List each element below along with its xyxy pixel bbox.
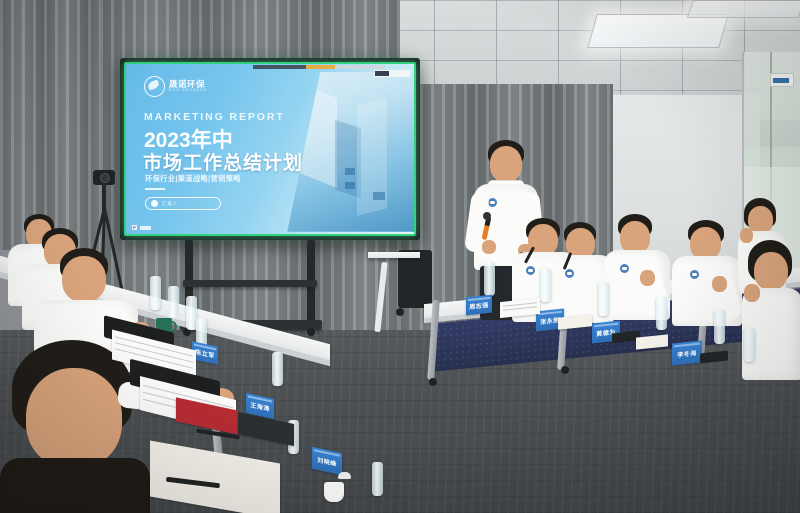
slide-title: 市场工作总结计划 — [143, 148, 303, 175]
polo-chest-logo — [526, 266, 535, 275]
slide-subtitle: 环保行业|渠道战略|营销策略 — [145, 174, 241, 184]
presenter-head — [490, 146, 522, 182]
water-bottle[interactable] — [372, 462, 383, 496]
ceiling-panel-light — [687, 0, 800, 18]
polo-chest-logo — [620, 264, 629, 273]
water-bottle[interactable] — [150, 276, 161, 310]
placard-name: 陈立军 — [195, 346, 215, 359]
wall-sign-bar — [773, 78, 789, 83]
slide-presenter-pill: 汇报人 — [145, 197, 221, 210]
powerpoint-icon: P — [132, 225, 137, 230]
placard-name: 王海涛 — [250, 399, 270, 412]
paper-cup[interactable] — [324, 482, 344, 502]
water-bottle[interactable] — [598, 282, 609, 316]
water-bottle[interactable] — [744, 328, 755, 362]
name-placard: 周志强 — [466, 295, 492, 316]
company-logo: 晟诺环保 ECO-ADVANCE — [144, 76, 207, 97]
polo-chest-logo — [488, 198, 497, 207]
tripod-mast — [102, 184, 106, 210]
stand-shelf — [183, 280, 317, 287]
logo-name-en: ECO-ADVANCE — [169, 89, 207, 93]
slide-tag-bar — [375, 71, 389, 76]
building-window — [345, 182, 355, 189]
logo-text: 晟诺环保 ECO-ADVANCE — [169, 80, 207, 93]
polo-chest-logo — [565, 269, 574, 278]
water-bottle[interactable] — [540, 268, 551, 302]
placard-name: 刘晓峰 — [317, 454, 337, 467]
placard-name: 周志强 — [469, 299, 489, 310]
microphone-head-icon — [483, 212, 491, 220]
attendee-hand — [640, 270, 655, 286]
presenter-hand-mic — [482, 240, 496, 254]
placard-name: 张永刚 — [540, 314, 560, 325]
attendee-torso — [0, 458, 150, 513]
pill-dot-icon — [151, 200, 158, 207]
name-placard: 李冬海 — [672, 340, 702, 365]
attendee-hand — [744, 284, 760, 302]
slide-status-bar — [140, 226, 151, 230]
video-camera — [93, 170, 115, 185]
slide-toolbar-strip — [253, 65, 385, 69]
slide-status-indicator: P — [132, 225, 151, 230]
polo-chest-logo — [690, 270, 699, 279]
table-caster — [561, 366, 569, 374]
attendee-hand — [712, 276, 727, 292]
placard-name: 李冬海 — [677, 347, 697, 358]
cup-lid — [338, 472, 351, 479]
building-window — [345, 168, 355, 175]
folding-chair[interactable] — [398, 250, 432, 308]
slide-canvas: 晟诺环保 ECO-ADVANCE MARKETING REPORT 2023年中… — [126, 64, 414, 234]
slide-divider — [145, 188, 165, 190]
building-window — [373, 192, 385, 200]
water-bottle[interactable] — [168, 286, 179, 318]
logo-emblem-icon — [144, 76, 165, 97]
attendee-head — [754, 252, 788, 290]
water-bottle[interactable] — [272, 352, 283, 386]
water-bottle[interactable] — [714, 310, 725, 344]
presentation-display[interactable]: 晟诺环保 ECO-ADVANCE MARKETING REPORT 2023年中… — [120, 58, 420, 240]
chair-caster — [396, 308, 404, 316]
ceiling-panel-light — [587, 14, 729, 48]
water-bottle[interactable] — [656, 296, 667, 330]
table-caster — [429, 378, 437, 386]
slide-presenter-label: 汇报人 — [162, 201, 178, 207]
slide-corner-tag — [374, 70, 410, 77]
attendee-head — [26, 368, 122, 468]
logo-name-cn: 晟诺环保 — [169, 80, 207, 89]
water-bottle[interactable] — [484, 262, 495, 296]
attendee-head — [62, 256, 106, 302]
meeting-room-photo: 晟诺环保 ECO-ADVANCE MARKETING REPORT 2023年中… — [0, 0, 800, 513]
attendee-right-4 — [672, 220, 746, 324]
slide-eyebrow: MARKETING REPORT — [144, 111, 285, 123]
side-table-top — [368, 252, 420, 258]
paper-line — [503, 306, 537, 311]
display-bezel: 晟诺环保 ECO-ADVANCE MARKETING REPORT 2023年中… — [124, 62, 416, 236]
stand-caster — [307, 328, 315, 336]
wall-sign — [770, 73, 794, 87]
